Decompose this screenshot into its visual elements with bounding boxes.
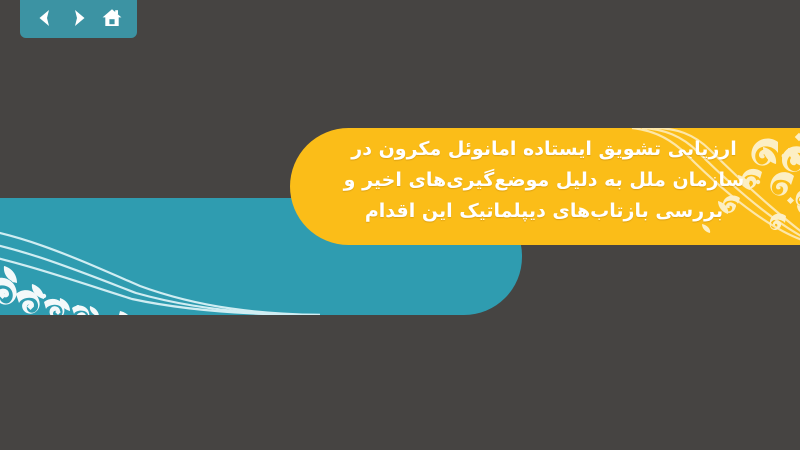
- navigation-bar: [20, 0, 137, 38]
- home-icon: [101, 7, 123, 29]
- orange-headline-banner: ارزیابی تشویق ایستاده امانوئل مکرون در س…: [290, 128, 800, 245]
- arabesque-corner-ornament: [0, 198, 320, 315]
- back-arrow-icon: [35, 8, 55, 28]
- back-button[interactable]: [32, 5, 58, 31]
- page-title: ارزیابی تشویق ایستاده امانوئل مکرون در س…: [290, 134, 800, 227]
- home-button[interactable]: [99, 5, 125, 31]
- slide-canvas: ارزیابی تشویق ایستاده امانوئل مکرون در س…: [0, 0, 800, 450]
- forward-button[interactable]: [66, 5, 92, 31]
- forward-arrow-icon: [69, 8, 89, 28]
